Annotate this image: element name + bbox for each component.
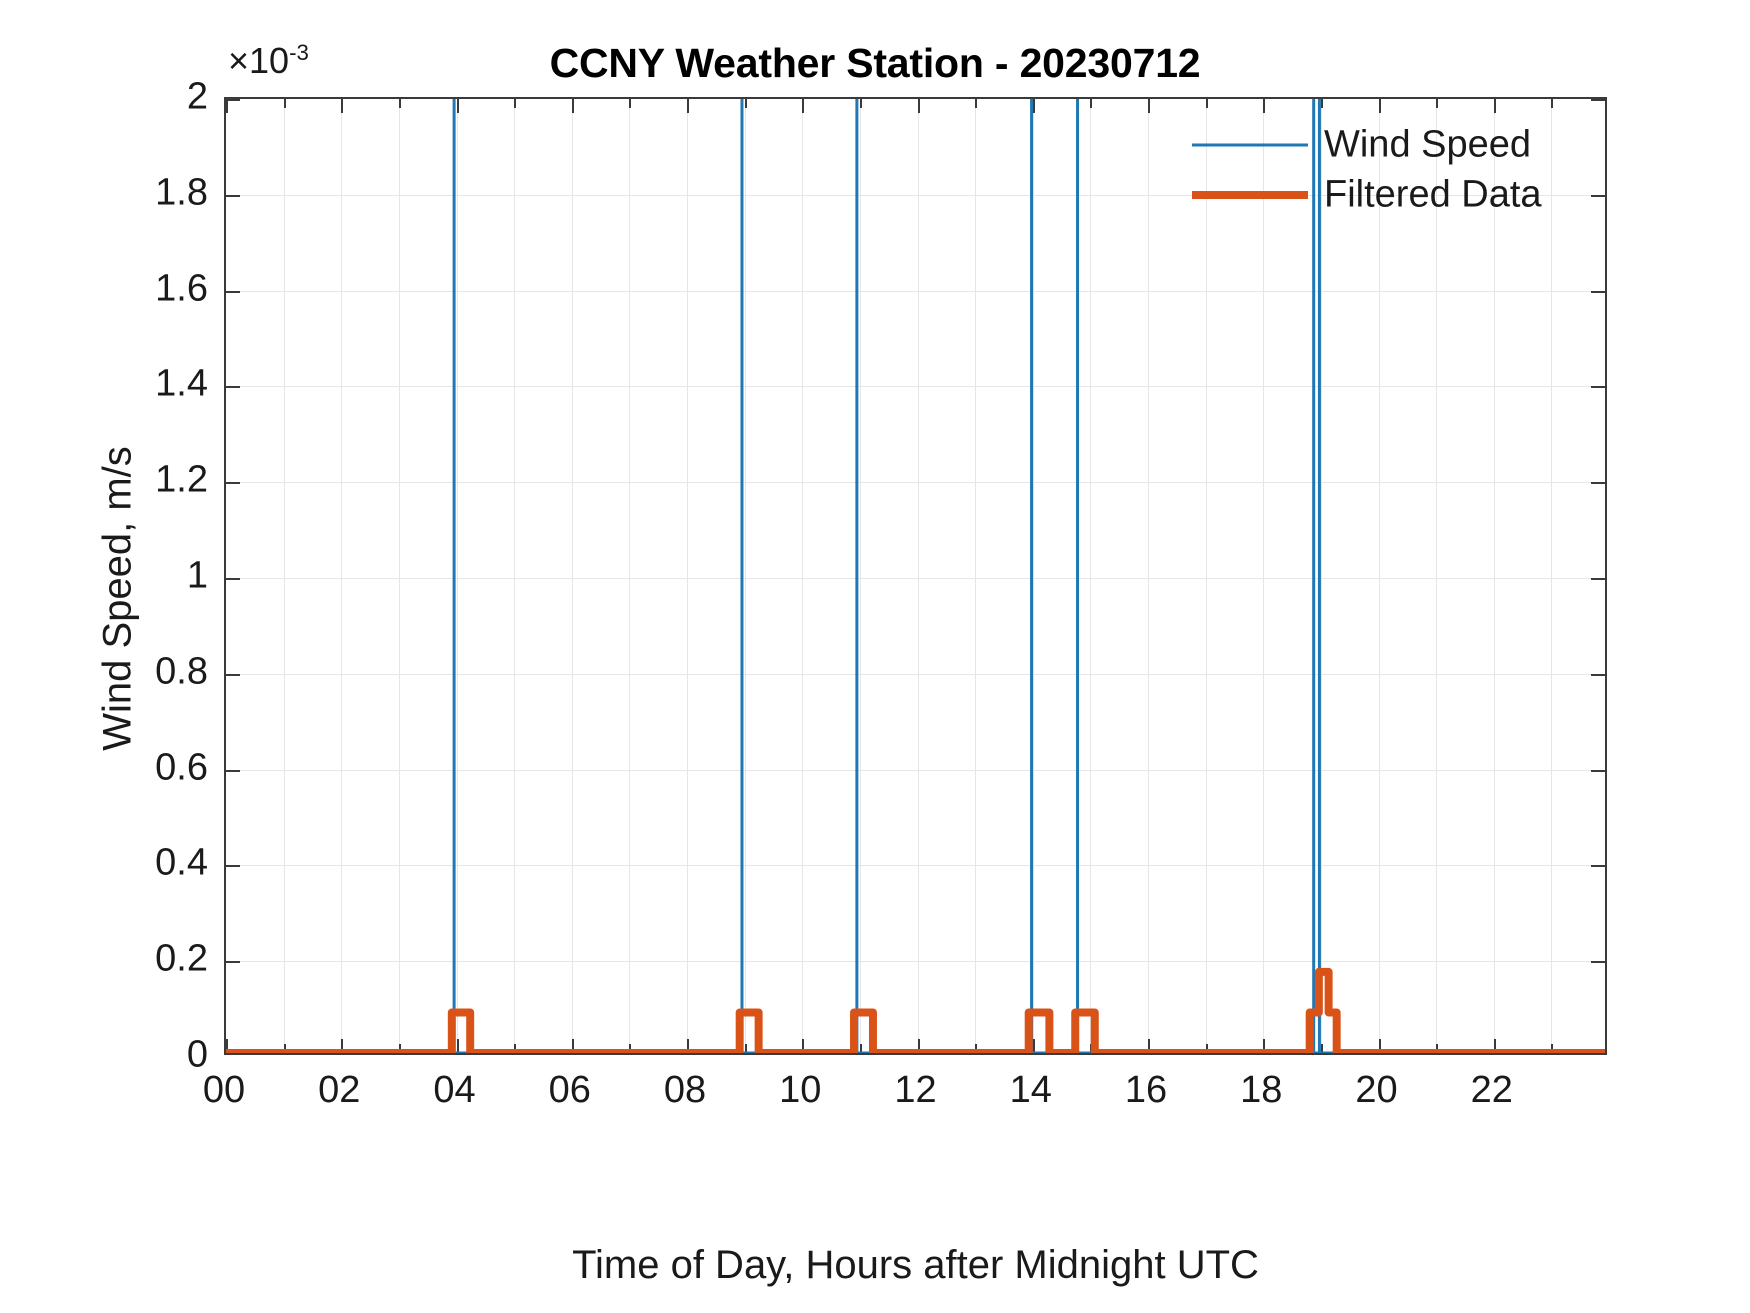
- series-layer: [226, 99, 1605, 1053]
- x-axis-tick-label: 00: [164, 1069, 284, 1112]
- legend-label-wind-speed: Wind Speed: [1324, 124, 1531, 167]
- y-axis-tick-label: 1.8: [18, 171, 208, 214]
- legend-item-wind-speed[interactable]: Wind Speed: [1192, 120, 1587, 170]
- x-axis-label: Time of Day, Hours after Midnight UTC: [224, 1243, 1607, 1288]
- x-axis-tick-label: 06: [510, 1069, 630, 1112]
- legend-swatch-filtered-data: [1192, 191, 1308, 199]
- legend-swatch-wind-speed: [1192, 144, 1308, 147]
- plot-area: [224, 97, 1607, 1055]
- x-axis-tick-label: 16: [1086, 1069, 1206, 1112]
- legend-item-filtered-data[interactable]: Filtered Data: [1192, 170, 1587, 220]
- x-axis-tick-label: 22: [1432, 1069, 1552, 1112]
- x-axis-tick-label: 20: [1317, 1069, 1437, 1112]
- x-axis-tick-label: 14: [971, 1069, 1091, 1112]
- filtered-data-line: [226, 972, 1605, 1053]
- chart-legend: Wind Speed Filtered Data: [1192, 120, 1587, 220]
- legend-label-filtered-data: Filtered Data: [1324, 174, 1542, 217]
- y-axis-label: Wind Speed, m/s: [96, 219, 141, 979]
- y-axis-exponent: ×10-3: [228, 40, 309, 82]
- x-axis-tick-label: 02: [279, 1069, 399, 1112]
- x-axis-tick-label: 12: [856, 1069, 976, 1112]
- figure-canvas: CCNY Weather Station - 20230712 ×10-3 00…: [0, 0, 1750, 1313]
- x-axis-tick-label: 18: [1201, 1069, 1321, 1112]
- x-axis-tick-label: 04: [395, 1069, 515, 1112]
- x-axis-tick-label: 10: [740, 1069, 860, 1112]
- y-axis-exponent-base: ×10: [228, 40, 289, 81]
- x-axis-tick-label: 08: [625, 1069, 745, 1112]
- y-axis-exponent-power: -3: [289, 40, 309, 65]
